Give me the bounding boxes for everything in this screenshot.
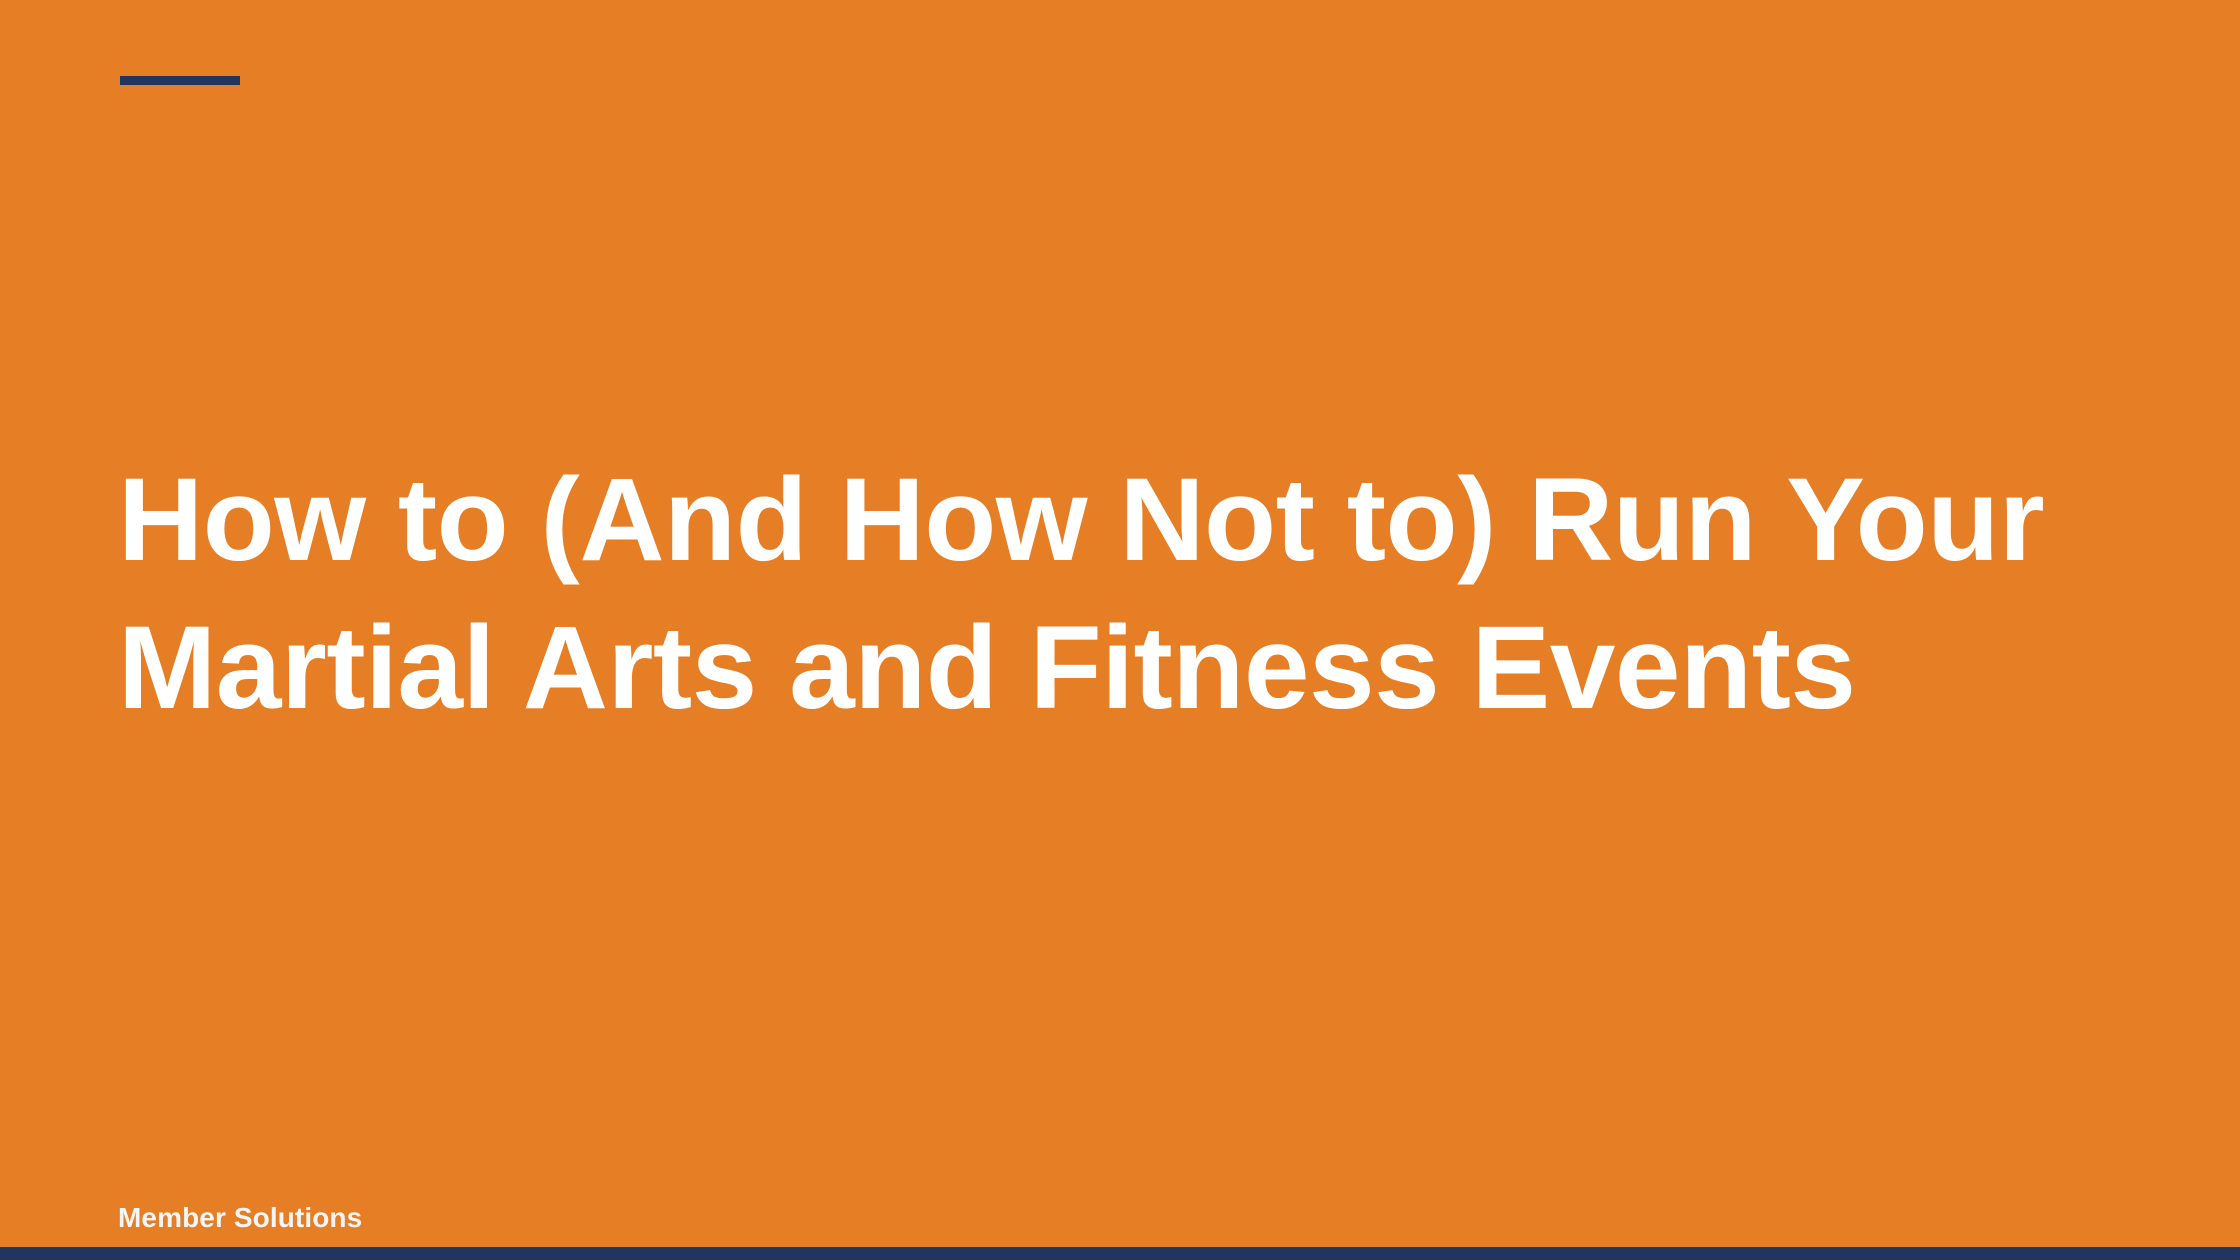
footer: Member Solutions [118,1201,362,1235]
bottom-accent-bar [0,1247,2240,1260]
accent-rule-decoration [120,76,240,85]
title-slide: How to (And How Not to) Run Your Martial… [0,0,2240,1260]
page-title: How to (And How Not to) Run Your Martial… [118,446,2138,742]
title-block: How to (And How Not to) Run Your Martial… [118,446,2138,742]
footer-organization-name: Member Solutions [118,1201,362,1235]
